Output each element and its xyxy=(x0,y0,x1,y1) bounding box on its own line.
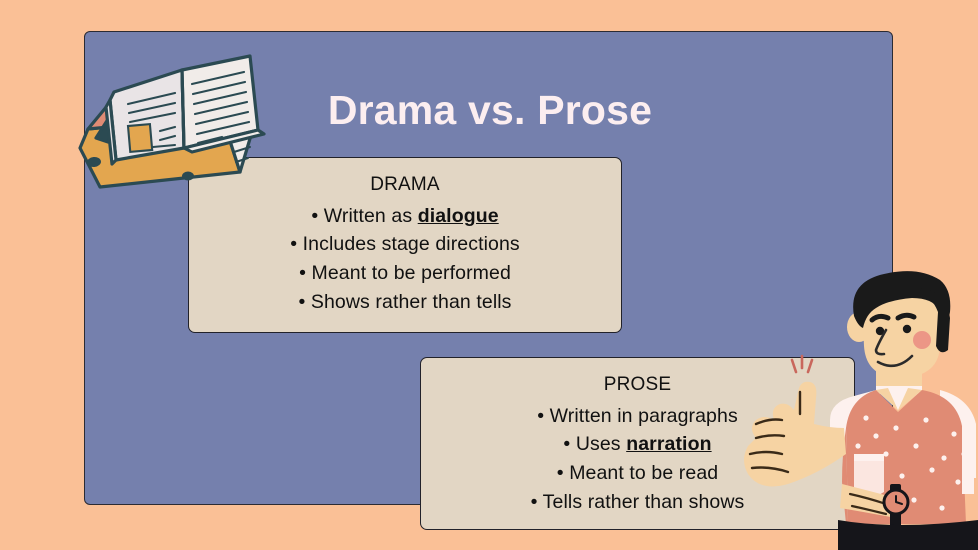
bullet-text: • Written as xyxy=(311,205,417,227)
list-item: • Written as dialogue xyxy=(189,202,621,231)
list-item: • Meant to be performed xyxy=(189,259,621,288)
list-item: • Includes stage directions xyxy=(189,230,621,259)
drama-card: DRAMA • Written as dialogue • Includes s… xyxy=(188,157,622,333)
slide-canvas: Drama vs. Prose DRAMA • Written as dialo… xyxy=(0,0,978,550)
bullet-text: • Shows rather than tells xyxy=(298,291,511,313)
bullet-emphasis: dialogue xyxy=(418,205,499,227)
list-item: • Meant to be read xyxy=(421,459,854,488)
bullet-text: • Includes stage directions xyxy=(290,233,520,255)
bullet-text: • Tells rather than shows xyxy=(531,491,745,513)
prose-card-heading: PROSE xyxy=(421,372,854,398)
drama-bullet-list: • Written as dialogue • Includes stage d… xyxy=(189,202,621,317)
list-item: • Tells rather than shows xyxy=(421,488,854,517)
bullet-text: • Uses xyxy=(563,433,626,455)
list-item: • Shows rather than tells xyxy=(189,288,621,317)
list-item: • Uses narration xyxy=(421,430,854,459)
bullet-text: • Meant to be read xyxy=(557,462,718,484)
drama-card-heading: DRAMA xyxy=(189,172,621,198)
bullet-text: • Written in paragraphs xyxy=(537,405,738,427)
bullet-text: • Meant to be performed xyxy=(299,262,511,284)
prose-card: PROSE • Written in paragraphs • Uses nar… xyxy=(420,357,855,530)
list-item: • Written in paragraphs xyxy=(421,402,854,431)
bullet-emphasis: narration xyxy=(626,433,711,455)
prose-bullet-list: • Written in paragraphs • Uses narration… xyxy=(421,402,854,517)
page-title: Drama vs. Prose xyxy=(150,87,830,134)
